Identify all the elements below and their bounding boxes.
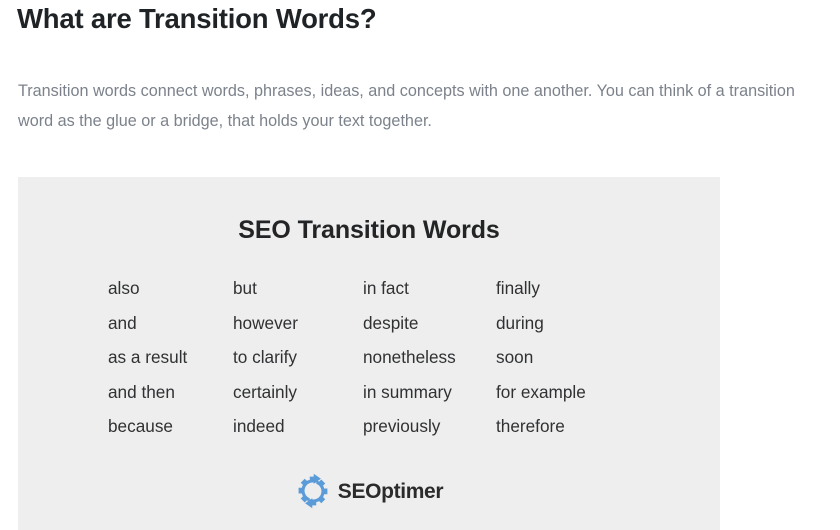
transition-word: indeed <box>233 415 363 437</box>
transition-word: and then <box>108 381 233 403</box>
transition-word: and <box>108 312 233 334</box>
seoptimer-wordmark: SEOptimer <box>338 481 443 502</box>
transition-word: to clarify <box>233 346 363 368</box>
intro-paragraph: Transition words connect words, phrases,… <box>18 76 828 136</box>
transition-word: also <box>108 277 233 299</box>
transition-word: soon <box>496 346 656 368</box>
transition-word: certainly <box>233 381 363 403</box>
transition-word: finally <box>496 277 656 299</box>
transition-words-grid: also but in fact finally and however des… <box>108 271 668 444</box>
transition-word: despite <box>363 312 496 334</box>
transition-word: therefore <box>496 415 656 437</box>
seoptimer-logo: SEOptimer <box>18 473 720 509</box>
seoptimer-gear-logo-icon <box>295 473 331 509</box>
article-page: What are Transition Words? Transition wo… <box>0 0 840 530</box>
transition-word: during <box>496 312 656 334</box>
transition-word: nonetheless <box>363 346 496 368</box>
seo-transition-words-infographic: SEO Transition Words also but in fact fi… <box>18 177 720 530</box>
transition-word: in summary <box>363 381 496 403</box>
transition-word: as a result <box>108 346 233 368</box>
transition-word: in fact <box>363 277 496 299</box>
transition-word: however <box>233 312 363 334</box>
page-title: What are Transition Words? <box>17 1 376 37</box>
transition-word: but <box>233 277 363 299</box>
transition-word: because <box>108 415 233 437</box>
transition-word: for example <box>496 381 656 403</box>
transition-word: previously <box>363 415 496 437</box>
infographic-title: SEO Transition Words <box>18 215 720 245</box>
